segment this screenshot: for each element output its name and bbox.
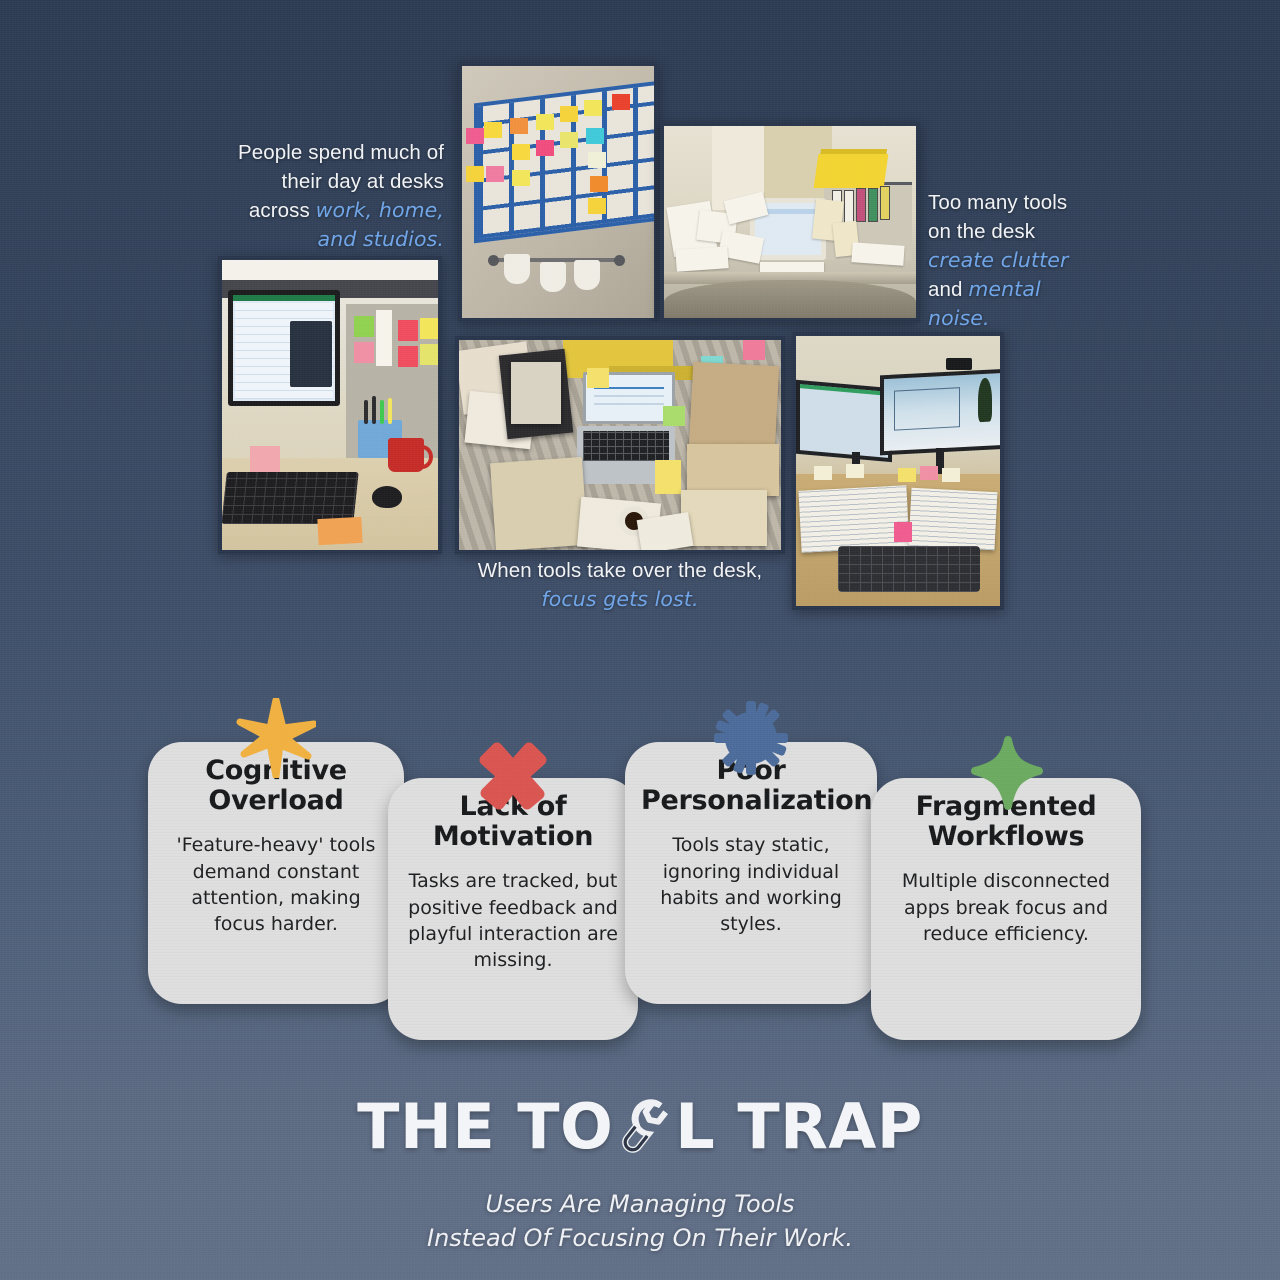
- caption-tools-take-over: When tools take over the desk, focus get…: [440, 556, 800, 614]
- card-fragmented-workflows[interactable]: Fragmented Workflows Multiple disconnect…: [871, 778, 1141, 1040]
- caption-2-plain-a: Too many tools on the desk: [928, 191, 1067, 243]
- photo-sticky-note-wall-calendar: [458, 62, 658, 322]
- card-cognitive-overload[interactable]: Cognitive Overload 'Feature-heavy' tools…: [148, 742, 404, 1004]
- subtitle-line-2: Instead Of Focusing On Their Work.: [427, 1224, 853, 1252]
- footer: THE TO L TRAP Users Are Managing Tools I…: [0, 1090, 1280, 1255]
- card-body: 'Feature-heavy' tools demand constant at…: [164, 832, 388, 937]
- card-poor-personalization[interactable]: Poor Personalization Tools stay static, …: [625, 742, 877, 1004]
- logo-text-part1: THE TO: [357, 1090, 613, 1163]
- logo-text-part2: L TRAP: [675, 1090, 923, 1163]
- caption-too-many-tools: Too many tools on the desk create clutte…: [928, 188, 1096, 334]
- photo-overhead-messy-wooden-desk: [455, 336, 785, 554]
- problem-cards: Cognitive Overload 'Feature-heavy' tools…: [0, 690, 1280, 1050]
- wrench-icon: [613, 1096, 675, 1158]
- caption-3-plain: When tools take over the desk,: [478, 559, 762, 582]
- caption-2-accent-a: create clutter: [928, 248, 1069, 272]
- card-body: Tools stay static, ignoring individual h…: [641, 832, 861, 937]
- four-point-star-icon: [966, 734, 1046, 814]
- caption-1-accent: work, home, and studios.: [316, 198, 444, 251]
- gear-cog-icon: [711, 698, 791, 778]
- caption-3-accent: focus gets lost.: [541, 587, 698, 611]
- cross-x-icon: [473, 734, 553, 814]
- photo-collage: People spend much of their day at desks …: [0, 0, 1280, 640]
- footer-subtitle: Users Are Managing Tools Instead Of Focu…: [0, 1187, 1280, 1255]
- logo-the-tool-trap: THE TO L TRAP: [357, 1090, 923, 1163]
- photo-dual-monitor-home-setup: [792, 332, 1004, 610]
- caption-people-spend-day: People spend much of their day at desks …: [236, 138, 444, 254]
- card-body: Tasks are tracked, but positive feedback…: [404, 868, 622, 973]
- sparkle-star-icon: [236, 698, 316, 778]
- card-lack-of-motivation[interactable]: Lack of Motivation Tasks are tracked, bu…: [388, 778, 638, 1040]
- photo-cluttered-office-desk: [660, 122, 920, 322]
- photo-cubicle-desk-monitor: [218, 256, 442, 554]
- subtitle-line-1: Users Are Managing Tools: [485, 1190, 794, 1218]
- caption-2-plain-b: and: [928, 278, 968, 301]
- card-body: Multiple disconnected apps break focus a…: [887, 868, 1125, 947]
